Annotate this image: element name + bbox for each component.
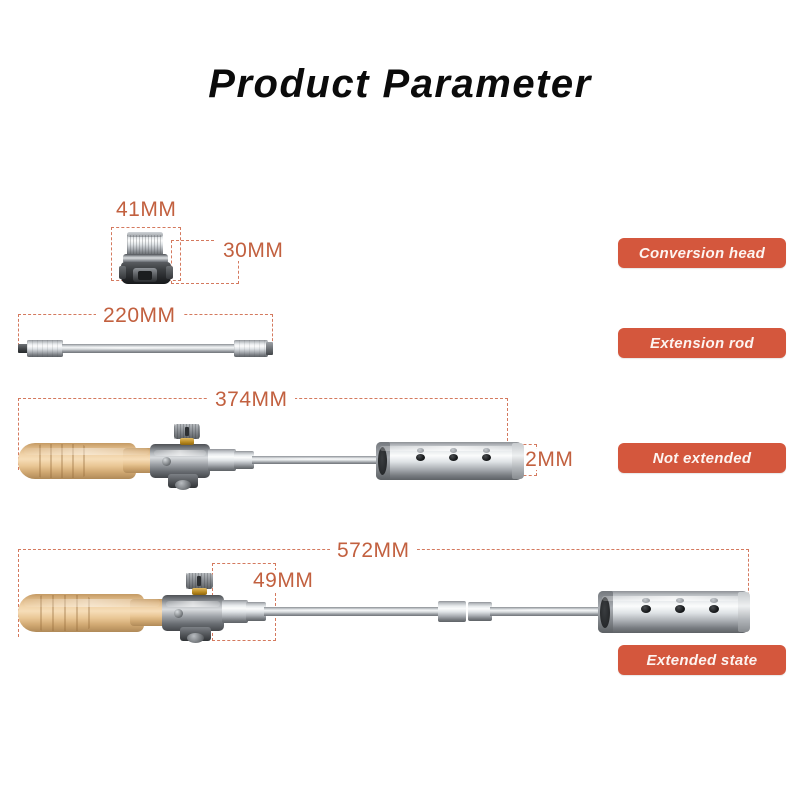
burner-hole [416,454,425,461]
extension-coupling [438,601,466,622]
dim-label-220mm: 220MM [96,305,183,326]
product-parameter-page: Product Parameter Conversion head Extens… [0,0,800,800]
badge-extension-rod-label: Extension rod [650,335,754,352]
badge-extended-state-label: Extended state [647,652,758,669]
gas-torch-not-extended-photo [18,418,508,486]
hex-coupling [222,600,248,623]
brass-collar [180,438,194,445]
burner-hole [641,605,651,613]
badge-conversion-head[interactable]: Conversion head [618,238,786,268]
burner-hole [675,605,685,613]
dim-label-41mm: 41MM [109,199,183,220]
gas-torch-extended-photo [18,566,749,638]
brass-collar [192,588,207,595]
burner-hole [482,454,491,461]
badge-extended-state[interactable]: Extended state [618,645,786,675]
conversion-head-photo [119,232,177,286]
dim-label-572mm: 572MM [330,540,417,561]
page-title: Product Parameter [0,62,800,107]
dim-label-374mm: 374MM [208,389,295,410]
hex-coupling [208,449,236,471]
badge-not-extended[interactable]: Not extended [618,443,786,473]
burner-hole [449,454,458,461]
burner-hole [709,605,719,613]
badge-extension-rod[interactable]: Extension rod [618,328,786,358]
extension-rod-photo [18,336,273,360]
dim-label-30mm: 30MM [216,240,290,261]
badge-conversion-head-label: Conversion head [639,245,765,262]
badge-not-extended-label: Not extended [653,450,752,467]
